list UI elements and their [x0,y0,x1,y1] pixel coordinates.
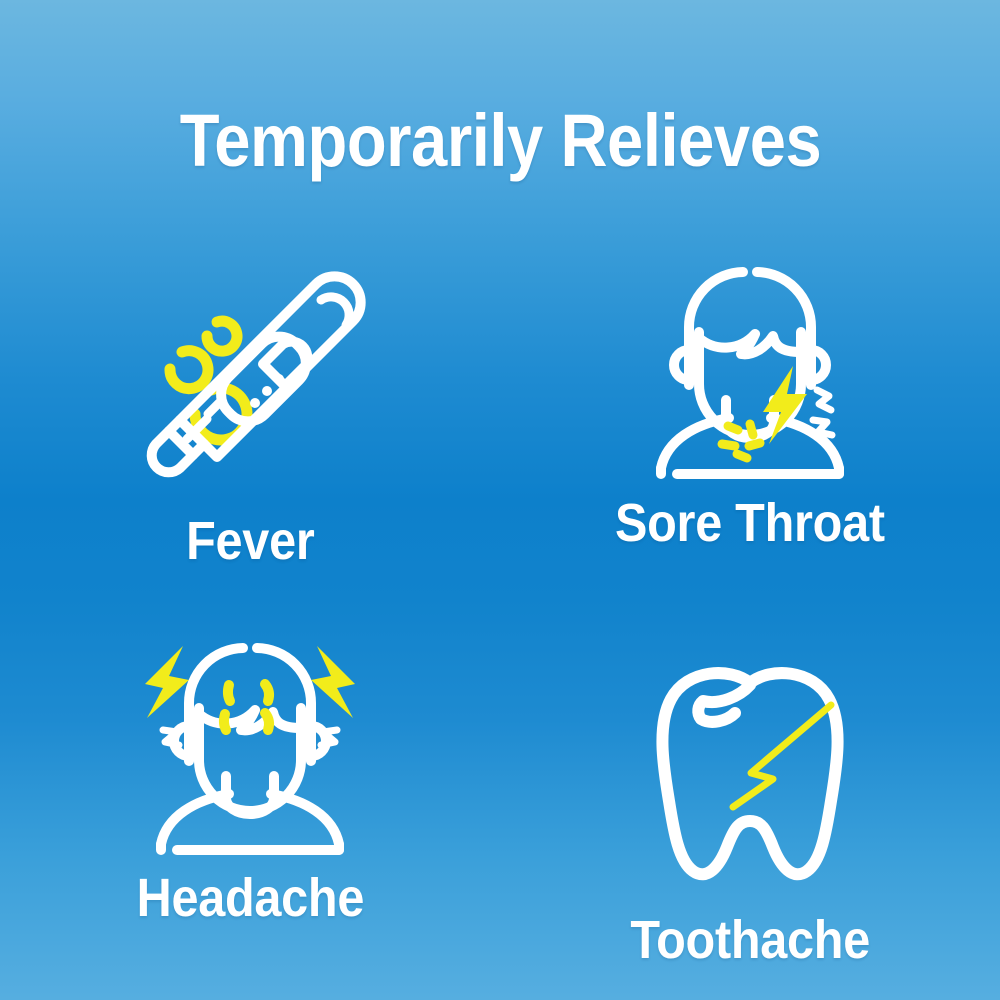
symptom-cell-sore-throat: Sore Throat [500,248,1000,613]
symptom-grid: Fever [0,248,1000,978]
person-headache-icon [125,629,375,859]
page-title: Temporarily Relieves [179,104,821,178]
symptom-label-sore-throat: Sore Throat [615,496,885,550]
symptom-label-toothache: Toothache [630,913,870,967]
symptom-label-fever: Fever [186,514,314,568]
symptom-cell-headache: Headache [0,613,500,978]
page-title-container: Temporarily Relieves [0,104,1000,178]
person-sore-throat-icon [625,254,875,484]
tooth-icon [625,661,875,891]
promo-poster: Temporarily Relieves [0,0,1000,1000]
symptom-label-headache: Headache [136,871,363,925]
symptom-cell-toothache: Toothache [500,613,1000,978]
thermometer-icon [125,274,375,504]
symptom-cell-fever: Fever [0,248,500,613]
